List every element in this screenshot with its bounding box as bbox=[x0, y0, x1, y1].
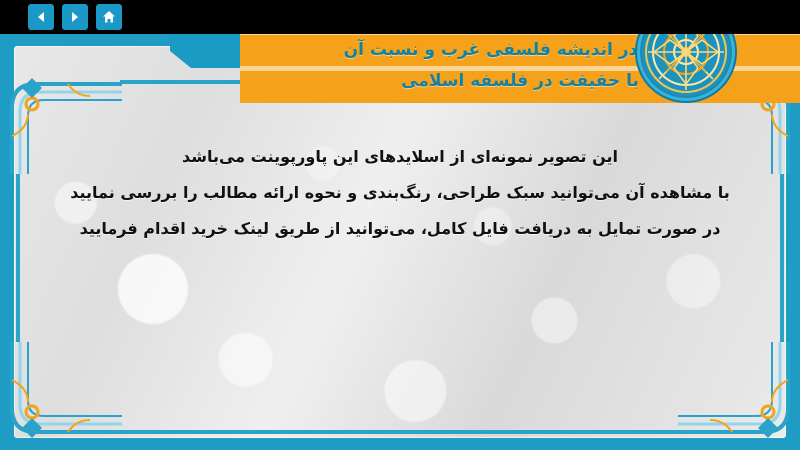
slide-viewer: این تصویر نمونه‌ای از اسلایدهای این پاور… bbox=[0, 0, 800, 450]
next-slide-button[interactable] bbox=[62, 4, 88, 30]
slide-body-text: این تصویر نمونه‌ای از اسلایدهای این پاور… bbox=[40, 139, 760, 247]
navigation-toolbar bbox=[0, 0, 800, 34]
home-icon bbox=[102, 10, 116, 24]
previous-slide-button[interactable] bbox=[28, 4, 54, 30]
home-button[interactable] bbox=[96, 4, 122, 30]
caret-left-icon bbox=[35, 11, 47, 23]
caret-right-icon bbox=[69, 11, 81, 23]
body-line-2: با مشاهده آن می‌توانید سبک طراحی، رنگ‌بن… bbox=[40, 175, 760, 211]
body-line-1: این تصویر نمونه‌ای از اسلایدهای این پاور… bbox=[40, 139, 760, 175]
body-line-3: در صورت تمایل به دریافت فایل کامل، می‌تو… bbox=[40, 211, 760, 247]
title-line-3: با حقیقت در فلسفه اسلامی bbox=[401, 66, 639, 97]
